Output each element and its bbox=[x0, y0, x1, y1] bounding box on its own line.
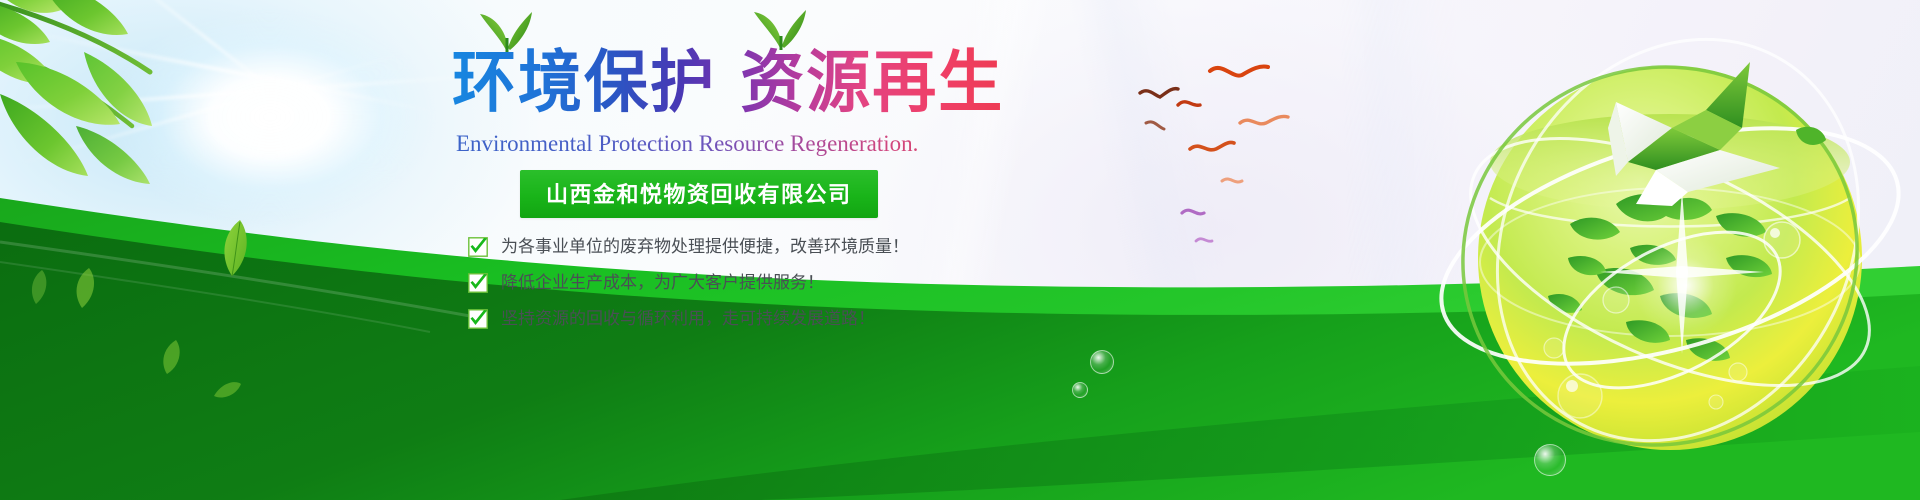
bubble-icon bbox=[1534, 444, 1566, 476]
list-item-label: 为各事业单位的废弃物处理提供便捷，改善环境质量！ bbox=[501, 236, 909, 258]
leaf-icon bbox=[72, 266, 98, 310]
list-item: 降低企业生产成本，为广大客户提供服务！ bbox=[468, 272, 1072, 294]
bubble-icon bbox=[1090, 350, 1114, 374]
feature-list: 为各事业单位的废弃物处理提供便捷，改善环境质量！ 降低企业生产成本，为广大客户提… bbox=[468, 236, 1072, 330]
check-mark-icon bbox=[468, 273, 488, 293]
flying-birds-icon bbox=[1130, 45, 1360, 245]
check-mark-icon bbox=[468, 237, 488, 257]
check-mark-icon bbox=[468, 309, 488, 329]
eco-globe-icon bbox=[1420, 10, 1920, 500]
eco-recycling-banner: 环境保护 资源再生 Environmental Protection Resou… bbox=[0, 0, 1920, 500]
page-title: 环境保护 资源再生 bbox=[452, 46, 1072, 120]
list-item-label: 坚持资源的回收与循环利用，走可持续发展道路！ bbox=[501, 308, 875, 330]
subtitle: Environmental Protection Resource Regene… bbox=[456, 130, 1072, 158]
leaf-icon bbox=[28, 268, 50, 306]
leaf-icon bbox=[212, 378, 242, 400]
list-item-label: 降低企业生产成本，为广大客户提供服务！ bbox=[501, 272, 824, 294]
list-item: 为各事业单位的废弃物处理提供便捷，改善环境质量！ bbox=[468, 236, 1072, 258]
leaf-icon bbox=[218, 218, 252, 280]
company-name-badge: 山西金和悦物资回收有限公司 bbox=[520, 170, 878, 218]
list-item: 坚持资源的回收与循环利用，走可持续发展道路！ bbox=[468, 308, 1072, 330]
bubble-icon bbox=[1072, 382, 1088, 398]
title-row: 环境保护 资源再生 bbox=[452, 46, 1072, 124]
leaf-icon bbox=[158, 338, 184, 376]
banner-copy: 环境保护 资源再生 Environmental Protection Resou… bbox=[452, 46, 1072, 344]
